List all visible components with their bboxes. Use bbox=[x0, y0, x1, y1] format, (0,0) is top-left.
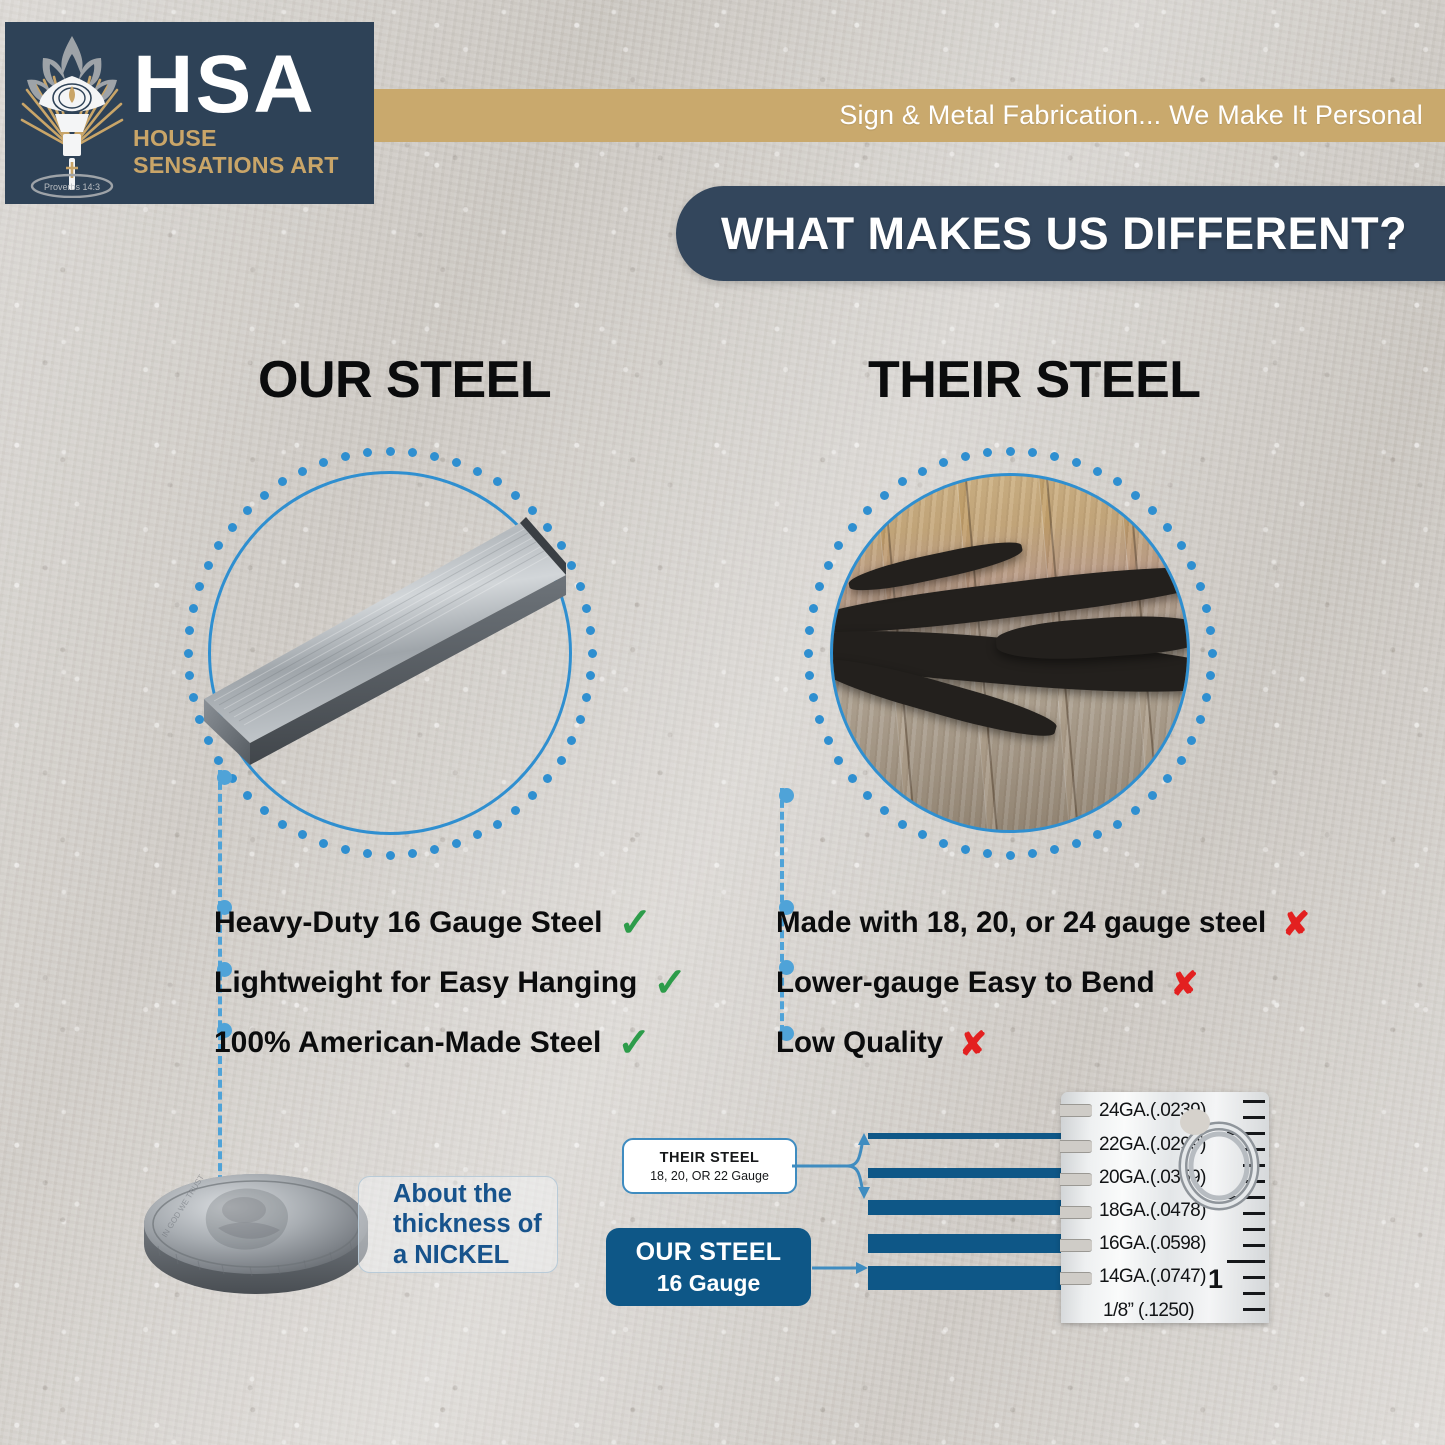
their-steel-circle bbox=[800, 443, 1220, 863]
brand-logo-box: Proverbs 14:3 HSA HOUSE SENSATIONS ART bbox=[5, 22, 374, 204]
bullet-label: 100% American-Made Steel bbox=[214, 1026, 601, 1060]
check-icon: ✓ bbox=[653, 963, 687, 1003]
gauge-bar-24 bbox=[868, 1133, 1073, 1139]
hsa-torch-emblem-icon: Proverbs 14:3 bbox=[13, 28, 131, 198]
gauge-bar-16 bbox=[868, 1266, 1073, 1290]
their-steel-heading: THEIR STEEL bbox=[868, 350, 1201, 410]
headline-banner: WHAT MAKES US DIFFERENT? bbox=[676, 186, 1445, 281]
ruler-label-16ga: 16GA.(.0598) bbox=[1099, 1233, 1206, 1255]
bullet-label: Made with 18, 20, or 24 gauge steel bbox=[776, 906, 1266, 940]
nickel-caption-line2: thickness of bbox=[376, 1210, 542, 1238]
check-icon: ✓ bbox=[617, 1023, 651, 1063]
bent-metal-photo bbox=[830, 473, 1190, 833]
bullet-label: Low Quality bbox=[776, 1026, 943, 1060]
list-item: Low Quality ✘ bbox=[776, 1013, 1396, 1073]
bullet-label: Heavy-Duty 16 Gauge Steel bbox=[214, 906, 603, 940]
metal-ring-icon bbox=[1171, 1108, 1267, 1218]
our-steel-heading: OUR STEEL bbox=[258, 350, 551, 410]
emblem-scripture-text: Proverbs 14:3 bbox=[44, 182, 100, 192]
logo-subtitle-text: HOUSE SENSATIONS ART bbox=[133, 125, 372, 179]
our-callout-title: OUR STEEL bbox=[636, 1238, 782, 1267]
list-item: Lower-gauge Easy to Bend ✘ bbox=[776, 953, 1396, 1013]
gauge-bar-18 bbox=[868, 1234, 1073, 1253]
list-item: 100% American-Made Steel ✓ bbox=[214, 1013, 734, 1073]
headline-text: WHAT MAKES US DIFFERENT? bbox=[721, 208, 1421, 260]
connector-dot bbox=[779, 788, 794, 803]
cross-icon: ✘ bbox=[959, 1027, 987, 1060]
list-item: Made with 18, 20, or 24 gauge steel ✘ bbox=[776, 893, 1396, 953]
gauge-bar-20 bbox=[868, 1200, 1073, 1215]
their-callout-subtitle: 18, 20, OR 22 Gauge bbox=[650, 1169, 769, 1183]
cross-icon: ✘ bbox=[1282, 907, 1310, 940]
list-item: Heavy-Duty 16 Gauge Steel ✓ bbox=[214, 893, 734, 953]
nickel-caption-line1: About the bbox=[376, 1180, 512, 1208]
connector-dot bbox=[217, 770, 232, 785]
cross-icon: ✘ bbox=[1171, 967, 1199, 1000]
nickel-caption-box: About the thickness of a NICKEL bbox=[358, 1176, 558, 1273]
our-steel-bullet-list: Heavy-Duty 16 Gauge Steel ✓ Lightweight … bbox=[214, 893, 734, 1073]
check-icon: ✓ bbox=[619, 903, 653, 943]
their-steel-fork-arrow bbox=[790, 1125, 890, 1325]
ruler-label-eighth: 1/8” (.1250) bbox=[1103, 1300, 1194, 1322]
our-steel-callout-box: OUR STEEL 16 Gauge bbox=[606, 1228, 811, 1306]
nickel-caption-line3: a NICKEL bbox=[376, 1241, 509, 1269]
their-steel-bullet-list: Made with 18, 20, or 24 gauge steel ✘ Lo… bbox=[776, 893, 1396, 1073]
logo-brand-text: HSA bbox=[133, 47, 379, 123]
steel-bar-image bbox=[180, 443, 600, 863]
our-steel-circle bbox=[180, 443, 600, 863]
tagline-text: Sign & Metal Fabrication... We Make It P… bbox=[839, 100, 1445, 131]
gauge-ruler: 24GA.(.0239) 22GA.(.0299) 20GA.(.0359) 1… bbox=[1061, 1092, 1269, 1323]
their-steel-callout-box: THEIR STEEL 18, 20, OR 22 Gauge bbox=[622, 1138, 797, 1194]
gauge-bar-22 bbox=[868, 1168, 1073, 1178]
list-item: Lightweight for Easy Hanging ✓ bbox=[214, 953, 734, 1013]
tagline-bar: Sign & Metal Fabrication... We Make It P… bbox=[371, 89, 1445, 142]
nickel-coin-image: IN GOD WE TRUST bbox=[140, 1158, 372, 1298]
ruler-inch-number: 1 bbox=[1208, 1264, 1223, 1295]
bullet-label: Lower-gauge Easy to Bend bbox=[776, 966, 1155, 1000]
our-callout-subtitle: 16 Gauge bbox=[657, 1270, 761, 1297]
their-callout-title: THEIR STEEL bbox=[660, 1150, 760, 1166]
bullet-label: Lightweight for Easy Hanging bbox=[214, 966, 637, 1000]
ruler-label-14ga: 14GA.(.0747) bbox=[1099, 1266, 1206, 1288]
